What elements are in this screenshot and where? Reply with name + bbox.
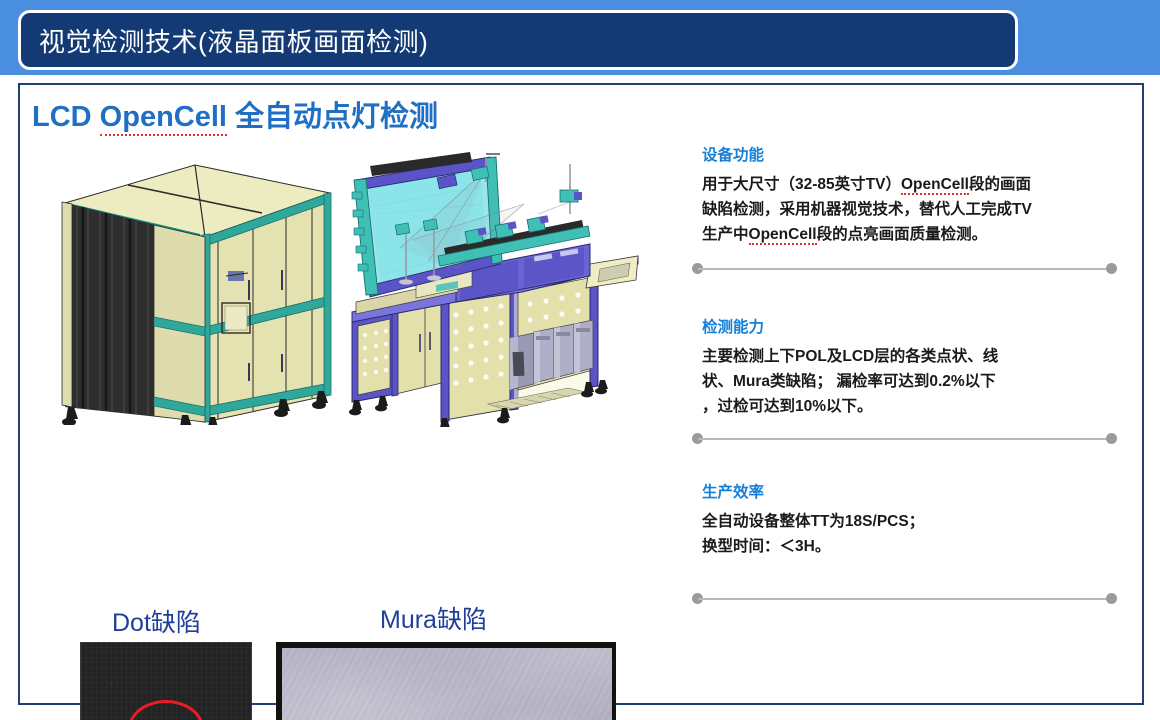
section-divider-1 — [692, 263, 1117, 275]
page-title: LCD OpenCell 全自动点灯检测 — [32, 93, 438, 135]
section-heading: 设备功能 — [702, 143, 1118, 165]
section-heading: 检测能力 — [702, 315, 1118, 337]
mura-defect-image — [276, 642, 616, 720]
dot-defect-image — [80, 642, 252, 720]
eff-line2: 换型时间：＜3H。 — [702, 538, 830, 555]
section-divider-3 — [692, 593, 1117, 605]
cap-line2: 状、Mura类缺陷； 漏检率可达到0.2%以下 — [702, 373, 996, 390]
page-title-opencell: OpenCell — [100, 101, 227, 136]
cap-line1: 主要检测上下POL及LCD层的各类点状、线 — [702, 348, 998, 365]
section-production-efficiency: 生产效率 全自动设备整体TT为18S/PCS； 换型时间：＜3H。 — [678, 480, 1118, 559]
right-column: 设备功能 用于大尺寸（32-85英寸TV）OpenCell段的画面 缺陷检测，采… — [678, 135, 1133, 695]
divider-line — [698, 598, 1111, 600]
content-panel: LCD OpenCell 全自动点灯检测 — [18, 83, 1144, 705]
section-body: 用于大尺寸（32-85英寸TV）OpenCell段的画面 缺陷检测，采用机器视觉… — [702, 172, 1102, 247]
page-title-prefix: LCD — [32, 101, 100, 133]
divider-line — [698, 268, 1111, 270]
func-line1-a: 用于大尺寸（32-85英寸TV） — [702, 176, 901, 193]
func-line1-c: 段的画面 — [969, 176, 1031, 193]
left-column: Dot缺陷 Mura缺陷 — [20, 140, 670, 700]
page-title-suffix: 全自动点灯检测 — [227, 101, 438, 133]
divider-dot-right — [1106, 433, 1117, 444]
mura-defect-caption: Mura缺陷 — [380, 600, 487, 636]
func-line1-opencell: OpenCell — [901, 176, 969, 195]
cap-line3: ，过检可达到10%以下。 — [702, 398, 873, 415]
func-line3-a: 生产中 — [702, 226, 749, 243]
slide-root: 视觉检测技术(液晶面板画面检测) LCD OpenCell 全自动点灯检测 — [0, 0, 1160, 720]
section-body: 主要检测上下POL及LCD层的各类点状、线 状、Mura类缺陷； 漏检率可达到0… — [702, 344, 1102, 419]
dot-defect-caption: Dot缺陷 — [112, 603, 201, 639]
section-divider-2 — [692, 433, 1117, 445]
section-heading: 生产效率 — [702, 480, 1118, 502]
header-title-plate: 视觉检测技术(液晶面板画面检测) — [18, 10, 1018, 70]
func-line2: 缺陷检测，采用机器视觉技术，替代人工完成TV — [702, 201, 1032, 218]
divider-line — [698, 438, 1111, 440]
header-title: 视觉检测技术(液晶面板画面检测) — [21, 22, 428, 59]
divider-dot-right — [1106, 263, 1117, 274]
machine-workstation-figure — [338, 152, 643, 427]
section-body: 全自动设备整体TT为18S/PCS； 换型时间：＜3H。 — [702, 509, 1102, 559]
eff-line1: 全自动设备整体TT为18S/PCS； — [702, 513, 924, 530]
machine-illustrations — [20, 140, 670, 430]
section-equipment-function: 设备功能 用于大尺寸（32-85英寸TV）OpenCell段的画面 缺陷检测，采… — [678, 143, 1118, 247]
func-line3-opencell: OpenCell — [749, 226, 817, 245]
section-detection-capability: 检测能力 主要检测上下POL及LCD层的各类点状、线 状、Mura类缺陷； 漏检… — [678, 315, 1118, 419]
divider-dot-right — [1106, 593, 1117, 604]
machine-enclosure-figure — [50, 145, 350, 425]
func-line3-c: 段的点亮画面质量检测。 — [817, 226, 988, 243]
mura-panel-surface — [282, 648, 612, 720]
